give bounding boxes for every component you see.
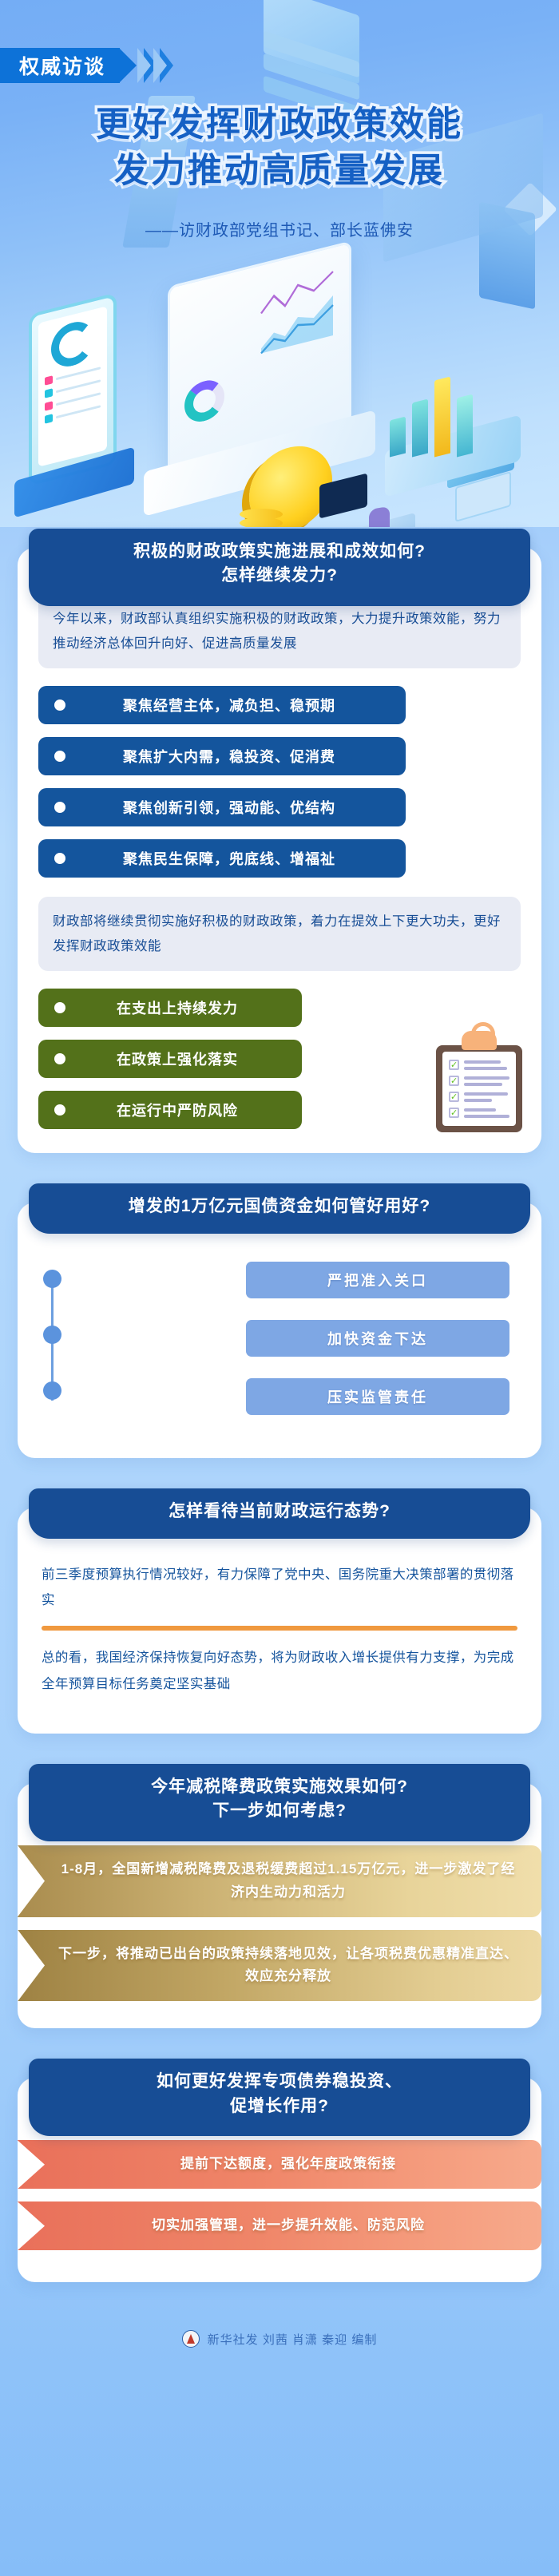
- illustration-workstation: [319, 479, 447, 527]
- page-byline: ——访财政部党组书记、部长蓝佛安: [0, 217, 559, 240]
- list-item[interactable]: 压实监管责任: [246, 1378, 509, 1415]
- section-5-question-line1: 如何更好发挥专项债券稳投资、: [42, 2070, 517, 2094]
- section-2-question-line1: 增发的1万亿元国债资金如何管好用好?: [42, 1195, 517, 1219]
- section-3-question-line1: 怎样看待当前财政运行态势?: [42, 1500, 517, 1524]
- illustration-phone: [29, 303, 133, 495]
- timeline-items: 严把准入关口 加快资金下达 压实监管责任: [94, 1262, 521, 1415]
- list-item-label: 在政策上强化落实: [77, 1048, 291, 1069]
- list-item[interactable]: 提前下达额度，强化年度政策衔接: [18, 2140, 541, 2189]
- section-2: 增发的1万亿元国债资金如何管好用好? 严把准入关口 加快资金下达 压实监管责任: [18, 1203, 541, 1458]
- list-item[interactable]: 聚焦扩大内需，稳投资、促消费: [38, 737, 406, 775]
- section-3-card: 前三季度预算执行情况较好，有力保障了党中央、国务院重大决策部署的贯彻落实 总的看…: [18, 1508, 541, 1734]
- section-3: 怎样看待当前财政运行态势? 前三季度预算执行情况较好，有力保障了党中央、国务院重…: [18, 1508, 541, 1734]
- donut-chart-icon: [51, 317, 94, 371]
- chevron-right-icon: [144, 48, 173, 83]
- timeline-node: [43, 1270, 61, 1288]
- list-item[interactable]: 聚焦民生保障，兜底线、增福祉: [38, 839, 406, 878]
- footer-credit: 新华社发 刘茜 肖潇 秦迎 编制: [0, 2309, 559, 2375]
- bullet-dot-icon: [54, 751, 65, 762]
- illustration-bar-chart: [385, 351, 529, 487]
- section-2-card: 严把准入关口 加快资金下达 压实监管责任: [18, 1203, 541, 1458]
- hero-banner: 权威访谈 更好发挥财政政策效能 发力推动高质量发展 ——访财政部党组书记、部长蓝…: [0, 0, 559, 527]
- donut-chart-icon: [184, 376, 224, 426]
- section-5: 如何更好发挥专项债券稳投资、 促增长作用? 提前下达额度，强化年度政策衔接 切实…: [18, 2078, 541, 2282]
- bullet-dot-icon: [54, 1104, 65, 1116]
- list-item[interactable]: 聚焦创新引领，强动能、优结构: [38, 788, 406, 826]
- section-4-question-line2: 下一步如何考虑?: [42, 1799, 517, 1823]
- clipboard-icon: ✓ ✓ ✓ ✓: [436, 1031, 522, 1132]
- section-1-question: 积极的财政政策实施进展和成效如何? 怎样继续发力?: [29, 529, 530, 606]
- section-4-question: 今年减税降费政策实施效果如何? 下一步如何考虑?: [29, 1764, 530, 1841]
- list-item-label: 聚焦扩大内需，稳投资、促消费: [77, 746, 394, 767]
- bullet-dot-icon: [54, 699, 65, 711]
- section-4: 今年减税降费政策实施效果如何? 下一步如何考虑? 1-8月，全国新增减税降费及退…: [18, 1783, 541, 2029]
- bullet-dot-icon: [54, 853, 65, 864]
- list-item[interactable]: 切实加强管理，进一步提升效能、防范风险: [18, 2201, 541, 2250]
- list-item-label: 聚焦民生保障，兜底线、增福祉: [77, 848, 394, 869]
- illustration-coin-stack: [240, 511, 283, 527]
- section-3-paragraph-1: 前三季度预算执行情况较好，有力保障了党中央、国务院重大决策部署的贯彻落实: [38, 1559, 521, 1623]
- bullet-dot-icon: [54, 802, 65, 813]
- footer-credit-text: 新华社发 刘茜 肖潇 秦迎 编制: [208, 2331, 378, 2348]
- section-4-question-line1: 今年减税降费政策实施效果如何?: [42, 1775, 517, 1799]
- list-item[interactable]: 在运行中严防风险: [38, 1091, 302, 1129]
- section-1: 积极的财政政策实施进展和成效如何? 怎样继续发力? 今年以来，财政部认真组织实施…: [18, 548, 541, 1153]
- timeline-node: [43, 1381, 61, 1400]
- list-item-label: 在运行中严防风险: [77, 1100, 291, 1120]
- page-title-line2: 发力推动高质量发展: [0, 149, 559, 195]
- section-5-question-line2: 促增长作用?: [42, 2094, 517, 2118]
- list-item-label: 聚焦创新引领，强动能、优结构: [77, 797, 394, 818]
- list-item-label: 聚焦经营主体，减负担、稳预期: [77, 695, 394, 715]
- list-item-label: 在支出上持续发力: [77, 997, 291, 1018]
- xinhua-logo-icon: [182, 2330, 200, 2348]
- separator: [42, 1626, 517, 1631]
- list-item[interactable]: 在政策上强化落实: [38, 1040, 302, 1078]
- page-title: 更好发挥财政政策效能 发力推动高质量发展: [0, 102, 559, 194]
- section-3-question: 怎样看待当前财政运行态势?: [29, 1488, 530, 1538]
- section-2-timeline: 严把准入关口 加快资金下达 压实监管责任: [38, 1257, 521, 1423]
- section-1-card: 今年以来，财政部认真组织实施积极的财政政策，大力提升政策效能，努力推动经济总体回…: [18, 548, 541, 1153]
- section-1-outro: 财政部将继续贯彻实施好积极的财政政策，着力在提效上下更大功夫，更好发挥财政政策效…: [38, 897, 521, 971]
- list-item[interactable]: 加快资金下达: [246, 1320, 509, 1357]
- list-item[interactable]: 聚焦经营主体，减负担、稳预期: [38, 686, 406, 724]
- section-1-question-line1: 积极的财政政策实施进展和成效如何?: [42, 540, 517, 564]
- section-5-ribbon-list: 提前下达额度，强化年度政策衔接 切实加强管理，进一步提升效能、防范风险: [18, 2140, 541, 2250]
- section-4-ribbon-list: 1-8月，全国新增减税降费及退税缓费超过1.15万亿元，进一步激发了经济内生动力…: [18, 1845, 541, 2002]
- section-1-blue-pill-list: 聚焦经营主体，减负担、稳预期 聚焦扩大内需，稳投资、促消费 聚焦创新引领，强动能…: [38, 686, 521, 878]
- section-1-question-line2: 怎样继续发力?: [42, 564, 517, 588]
- list-item[interactable]: 下一步，将推动已出台的政策持续落地见效，让各项税费优惠精准直达、效应充分释放: [18, 1930, 541, 2002]
- timeline-rail: [38, 1262, 94, 1415]
- list-item[interactable]: 1-8月，全国新增减税降费及退税缓费超过1.15万亿元，进一步激发了经济内生动力…: [18, 1845, 541, 1917]
- category-tag: 权威访谈: [0, 48, 173, 83]
- line-chart-icon: [184, 268, 336, 374]
- timeline-node: [43, 1326, 61, 1344]
- section-3-paragraph-2: 总的看，我国经济保持恢复向好态势，将为财政收入增长提供有力支撑，为完成全年预算目…: [38, 1642, 521, 1706]
- page-title-line1: 更好发挥财政政策效能: [0, 102, 559, 149]
- infographic-page: 权威访谈 更好发挥财政政策效能 发力推动高质量发展 ——访财政部党组书记、部长蓝…: [0, 0, 559, 2576]
- section-2-question: 增发的1万亿元国债资金如何管好用好?: [29, 1183, 530, 1233]
- list-item[interactable]: 严把准入关口: [246, 1262, 509, 1298]
- bullet-dot-icon: [54, 1053, 65, 1064]
- bullet-dot-icon: [54, 1002, 65, 1013]
- section-5-question: 如何更好发挥专项债券稳投资、 促增长作用?: [29, 2059, 530, 2136]
- category-tag-label: 权威访谈: [0, 48, 120, 83]
- list-item[interactable]: 在支出上持续发力: [38, 989, 302, 1027]
